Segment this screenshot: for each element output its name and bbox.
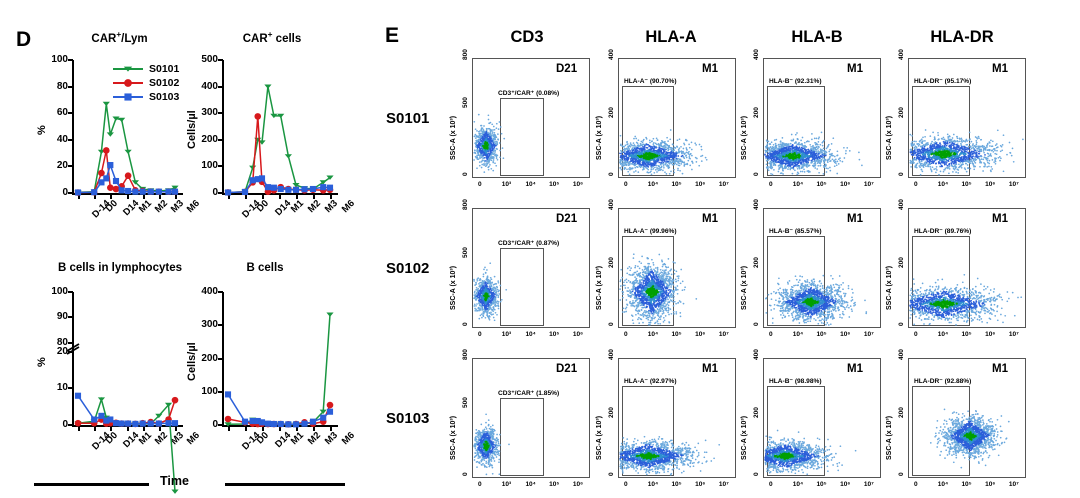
flow-badge: M1 <box>847 63 863 75</box>
flow-x-tick: 10⁷ <box>1009 331 1019 338</box>
flow-y-tick: 0 <box>898 472 905 476</box>
flow-x-tick: 10⁶ <box>573 481 583 488</box>
x-tickmark-b-cells-1 <box>245 427 247 431</box>
panel-letter-e: E <box>385 24 399 48</box>
flow-x-tick: 10⁷ <box>719 181 729 188</box>
flow-x-tick: 10⁶ <box>985 331 995 338</box>
x-tick-b-cells-6: M6 <box>340 430 357 447</box>
y-tickmark-car-lym-5 <box>68 59 73 61</box>
x-tickmark-b-cells-5 <box>313 427 315 431</box>
flow-row-header-s0101: S0101 <box>386 110 429 127</box>
x-tickmark-b-cells-4 <box>296 427 298 431</box>
flow-y-tick: 800 <box>462 49 469 60</box>
legend-label-s0102: S0102 <box>149 77 179 89</box>
flow-x-tick: 10⁶ <box>573 181 583 188</box>
flow-badge: M1 <box>847 363 863 375</box>
legend-marker-s0101 <box>112 63 146 75</box>
x-tickmark-b-cells-lym-4 <box>143 427 145 431</box>
y-tickmark-car-lym-0 <box>68 192 73 194</box>
flow-y-tick: 500 <box>462 98 469 109</box>
flow-y-tick: 200 <box>608 407 615 418</box>
flow-x-tick: 10⁴ <box>525 181 535 188</box>
flow-x-tick: 10⁴ <box>938 181 948 188</box>
flow-gate-rect <box>622 386 674 476</box>
flow-x-tick: 10⁵ <box>816 481 826 488</box>
flow-gate-label: HLA-A⁻ (90.70%) <box>624 77 677 85</box>
legend-item-s0102: S0102 <box>112 76 179 90</box>
flow-x-tick: 10⁶ <box>695 331 705 338</box>
flow-x-tick: 10⁴ <box>793 181 803 188</box>
flow-y-tick: 0 <box>753 172 760 176</box>
flow-x-tick: 0 <box>624 481 628 488</box>
flow-x-tick: 0 <box>914 331 918 338</box>
flow-badge: D21 <box>556 363 577 375</box>
flow-x-tick: 0 <box>624 331 628 338</box>
flow-x-tick: 0 <box>624 181 628 188</box>
x-tickmark-b-cells-3 <box>279 427 281 431</box>
flow-y-axis-label: SSC-A (x 10³) <box>741 416 748 460</box>
flow-badge: M1 <box>992 363 1008 375</box>
legend-label-s0101: S0101 <box>149 63 179 75</box>
flow-x-tick: 0 <box>769 331 773 338</box>
x-tickmark-car-lym-2 <box>110 195 112 199</box>
x-tickmark-b-cells-lym-5 <box>159 427 161 431</box>
flow-y-tick: 200 <box>753 407 760 418</box>
y-tick-b-cells-lym-3: 80 <box>38 337 68 348</box>
flow-y-tick: 400 <box>753 49 760 60</box>
flow-y-tick: 400 <box>608 349 615 360</box>
flow-gate-rect <box>500 248 544 326</box>
y-axis-line-car-cells <box>222 60 224 193</box>
x-tick-b-cells-lym-5: M3 <box>169 430 186 447</box>
x-tick-car-cells-5: M3 <box>323 198 340 215</box>
flow-gate-label: HLA-DR⁻ (92.88%) <box>914 377 971 385</box>
y-tick-car-lym-2: 40 <box>38 134 68 145</box>
y-tick-car-cells-2: 200 <box>188 134 218 145</box>
y-tick-car-cells-4: 400 <box>188 81 218 92</box>
flow-y-tick: 200 <box>753 257 760 268</box>
y-tickmark-car-cells-0 <box>218 192 223 194</box>
y-tick-b-cells-1: 100 <box>188 386 218 397</box>
chart-title-b-cells: B cells <box>225 262 305 274</box>
flow-x-tick: 10⁷ <box>864 181 874 188</box>
legend-marker-s0102 <box>112 77 146 89</box>
flow-y-tick: 0 <box>898 322 905 326</box>
y-tickmark-car-lym-4 <box>68 86 73 88</box>
y-tick-b-cells-2: 200 <box>188 353 218 364</box>
y-tick-car-lym-1: 20 <box>38 160 68 171</box>
flow-y-axis-label: SSC-A (x 10³) <box>886 266 893 310</box>
flow-y-tick: 0 <box>753 322 760 326</box>
flow-x-tick: 10⁴ <box>525 331 535 338</box>
x-tick-b-cells-lym-3: M1 <box>136 430 153 447</box>
flow-y-tick: 0 <box>608 172 615 176</box>
y-tickmark-b-cells-3 <box>218 324 223 326</box>
y-tick-car-cells-5: 500 <box>188 54 218 65</box>
y-tick-b-cells-3: 300 <box>188 319 218 330</box>
y-tickmark-b-cells-0 <box>218 424 223 426</box>
flow-y-tick: 500 <box>462 248 469 259</box>
flow-y-tick: 200 <box>898 107 905 118</box>
legend-item-s0103: S0103 <box>112 90 179 104</box>
flow-y-tick: 400 <box>753 199 760 210</box>
flow-y-tick: 0 <box>462 472 469 476</box>
flow-y-axis-label: SSC-A (x 10³) <box>886 416 893 460</box>
flow-gate-rect <box>622 236 674 326</box>
y-tickmark-b-cells-2 <box>218 358 223 360</box>
flow-badge: M1 <box>847 213 863 225</box>
flow-x-tick: 10⁶ <box>695 481 705 488</box>
y-tick-car-cells-0: 0 <box>188 187 218 198</box>
flow-y-axis-label: SSC-A (x 10³) <box>450 266 457 310</box>
flow-x-tick: 0 <box>769 481 773 488</box>
flow-x-tick: 10⁶ <box>840 181 850 188</box>
flow-column-header-hla-a: HLA-A <box>602 28 740 47</box>
flow-y-tick: 0 <box>898 172 905 176</box>
flow-x-tick: 10⁵ <box>671 331 681 338</box>
flow-badge: M1 <box>992 213 1008 225</box>
flow-x-tick: 10⁵ <box>816 181 826 188</box>
flow-y-tick: 0 <box>608 322 615 326</box>
x-tick-car-lym-6: M6 <box>185 198 202 215</box>
flow-y-axis-label: SSC-A (x 10³) <box>741 116 748 160</box>
flow-y-tick: 400 <box>898 49 905 60</box>
x-tickmark-b-cells-lym-2 <box>110 427 112 431</box>
legend-label-s0103: S0103 <box>149 91 179 103</box>
flow-gate-label: CD3⁺/CAR⁺ (0.08%) <box>498 89 559 97</box>
flow-y-tick: 200 <box>608 107 615 118</box>
y-tickmark-car-cells-2 <box>218 139 223 141</box>
flow-y-tick: 800 <box>462 349 469 360</box>
flow-gate-rect <box>500 398 544 476</box>
flow-x-tick: 10⁴ <box>648 481 658 488</box>
y-tickmark-car-lym-3 <box>68 112 73 114</box>
flow-x-tick: 10⁵ <box>671 481 681 488</box>
flow-gate-label: CD3⁺/CAR⁺ (1.85%) <box>498 389 559 397</box>
flow-badge: M1 <box>702 363 718 375</box>
y-tickmark-b-cells-lym-4 <box>68 316 73 318</box>
x-tickmark-car-cells-0 <box>228 195 230 199</box>
x-tick-car-cells-6: M6 <box>340 198 357 215</box>
flow-x-tick: 0 <box>478 331 482 338</box>
flow-x-tick: 10⁴ <box>648 331 658 338</box>
y-tick-b-cells-4: 400 <box>188 286 218 297</box>
y-tickmark-b-cells-lym-0 <box>68 424 73 426</box>
flow-gate-rect <box>767 86 825 176</box>
flow-row-header-s0103: S0103 <box>386 410 429 427</box>
flow-x-tick: 10⁴ <box>648 181 658 188</box>
flow-x-tick: 10³ <box>502 481 511 488</box>
flow-y-axis-label: SSC-A (x 10³) <box>741 266 748 310</box>
flow-gate-rect <box>912 86 970 176</box>
flow-x-tick: 10⁶ <box>985 481 995 488</box>
flow-gate-label: CD3⁺/CAR⁺ (0.87%) <box>498 239 559 247</box>
x-tickmark-car-lym-6 <box>175 195 177 199</box>
flow-x-tick: 10⁵ <box>549 181 559 188</box>
x-tickmark-car-cells-6 <box>330 195 332 199</box>
flow-badge: M1 <box>702 213 718 225</box>
flow-x-tick: 0 <box>478 181 482 188</box>
x-tickmark-car-lym-1 <box>94 195 96 199</box>
flow-y-axis-label: SSC-A (x 10³) <box>886 116 893 160</box>
flow-x-tick: 10⁴ <box>793 481 803 488</box>
flow-y-tick: 200 <box>898 407 905 418</box>
flow-x-tick: 0 <box>478 481 482 488</box>
flow-x-tick: 10⁶ <box>985 181 995 188</box>
y-tick-car-lym-3: 60 <box>38 107 68 118</box>
flow-x-tick: 10⁵ <box>961 481 971 488</box>
flow-x-tick: 10⁵ <box>816 331 826 338</box>
x-tickmark-car-lym-3 <box>127 195 129 199</box>
x-tickmark-car-cells-1 <box>245 195 247 199</box>
flow-y-axis-label: SSC-A (x 10³) <box>450 116 457 160</box>
legend-item-s0101: S0101 <box>112 62 179 76</box>
x-tickmark-car-lym-4 <box>143 195 145 199</box>
flow-x-tick: 10⁷ <box>864 481 874 488</box>
x-tick-b-cells-4: M2 <box>306 430 323 447</box>
flow-column-header-cd3: CD3 <box>458 28 596 47</box>
flow-column-header-hla-dr: HLA-DR <box>893 28 1031 47</box>
flow-gate-label: HLA-B⁻ (85.57%) <box>769 227 822 235</box>
y-tickmark-b-cells-lym-1 <box>68 387 73 389</box>
flow-column-header-hla-b: HLA-B <box>748 28 886 47</box>
y-axis-line-car-lym <box>72 60 74 193</box>
x-tickmark-b-cells-lym-1 <box>94 427 96 431</box>
y-tick-car-lym-5: 100 <box>38 54 68 65</box>
flow-x-tick: 10⁴ <box>938 481 948 488</box>
x-tick-b-cells-lym-4: M2 <box>153 430 170 447</box>
flow-y-tick: 500 <box>462 398 469 409</box>
x-tickmark-car-cells-4 <box>296 195 298 199</box>
flow-gate-rect <box>767 236 825 326</box>
chart-title-car-lym: CAR+/Lym <box>62 30 177 45</box>
x-tickmark-car-cells-2 <box>262 195 264 199</box>
x-tick-b-cells-lym-6: M6 <box>185 430 202 447</box>
y-tick-b-cells-lym-0: 0 <box>38 419 68 430</box>
flow-gate-rect <box>912 386 970 476</box>
flow-gate-label: HLA-A⁻ (99.96%) <box>624 227 677 235</box>
y-tickmark-car-cells-3 <box>218 112 223 114</box>
flow-x-tick: 10⁷ <box>719 331 729 338</box>
y-tick-b-cells-lym-4: 90 <box>38 311 68 322</box>
x-tick-car-cells-4: M2 <box>306 198 323 215</box>
flow-y-tick: 800 <box>462 199 469 210</box>
flow-x-tick: 10⁴ <box>525 481 535 488</box>
flow-x-tick: 0 <box>914 481 918 488</box>
flow-x-tick: 10⁴ <box>938 331 948 338</box>
flow-gate-label: HLA-A⁻ (92.97%) <box>624 377 677 385</box>
x-tick-car-lym-4: M2 <box>153 198 170 215</box>
flow-x-tick: 10⁶ <box>840 481 850 488</box>
x-tickmark-b-cells-lym-6 <box>175 427 177 431</box>
flow-gate-rect <box>500 98 544 176</box>
flow-y-tick: 200 <box>753 107 760 118</box>
x-tickmark-car-cells-5 <box>313 195 315 199</box>
flow-x-tick: 0 <box>914 181 918 188</box>
flow-y-tick: 400 <box>753 349 760 360</box>
x-tickmark-car-lym-0 <box>78 195 80 199</box>
x-tickmark-car-cells-3 <box>279 195 281 199</box>
y-tickmark-car-lym-2 <box>68 139 73 141</box>
flow-y-axis-label: SSC-A (x 10³) <box>596 116 603 160</box>
flow-y-axis-label: SSC-A (x 10³) <box>596 266 603 310</box>
flow-x-tick: 10⁵ <box>961 181 971 188</box>
x-tick-car-cells-3: M1 <box>289 198 306 215</box>
flow-badge: D21 <box>556 213 577 225</box>
flow-x-tick: 10⁴ <box>793 331 803 338</box>
y-tickmark-b-cells-1 <box>218 391 223 393</box>
x-tickmark-b-cells-0 <box>228 427 230 431</box>
x-tick-b-cells-5: M3 <box>323 430 340 447</box>
y-tickmark-b-cells-4 <box>218 291 223 293</box>
flow-x-tick: 10³ <box>502 331 511 338</box>
flow-x-tick: 10⁷ <box>864 331 874 338</box>
x-tickmark-b-cells-lym-3 <box>127 427 129 431</box>
y-tickmark-car-lym-1 <box>68 165 73 167</box>
flow-x-tick: 10⁶ <box>840 331 850 338</box>
x-tick-car-lym-5: M3 <box>169 198 186 215</box>
flow-gate-rect <box>912 236 970 326</box>
flow-y-tick: 0 <box>608 472 615 476</box>
flow-badge: D21 <box>556 63 577 75</box>
y-tickmark-b-cells-lym-5 <box>68 291 73 293</box>
y-tickmark-car-cells-4 <box>218 86 223 88</box>
flow-y-tick: 400 <box>608 49 615 60</box>
flow-gate-rect <box>622 86 674 176</box>
x-tickmark-b-cells-lym-0 <box>78 427 80 431</box>
flow-x-tick: 10⁶ <box>695 181 705 188</box>
flow-badge: M1 <box>702 63 718 75</box>
flow-x-tick: 10⁵ <box>549 331 559 338</box>
flow-gate-label: HLA-DR⁻ (89.76%) <box>914 227 971 235</box>
flow-x-tick: 10⁵ <box>549 481 559 488</box>
flow-x-tick: 0 <box>769 181 773 188</box>
flow-x-tick: 10⁶ <box>573 331 583 338</box>
y-tick-b-cells-0: 0 <box>188 419 218 430</box>
flow-y-tick: 0 <box>462 322 469 326</box>
x-tickmark-car-lym-5 <box>159 195 161 199</box>
flow-y-axis-label: SSC-A (x 10³) <box>596 416 603 460</box>
flow-x-tick: 10⁷ <box>1009 181 1019 188</box>
chart-title-b-cells-lym: B cells in lymphocytes <box>45 262 195 274</box>
flow-row-header-s0102: S0102 <box>386 260 429 277</box>
y-axis-break-b-cells-lym <box>67 341 81 360</box>
time-bar-left <box>34 483 149 486</box>
flow-y-tick: 0 <box>753 472 760 476</box>
panel-letter-d: D <box>16 28 31 52</box>
flow-x-tick: 10⁷ <box>1009 481 1019 488</box>
x-tickmark-b-cells-2 <box>262 427 264 431</box>
y-axis-label-b-cells-lym: % <box>36 357 48 367</box>
flow-y-tick: 400 <box>898 349 905 360</box>
x-tick-b-cells-3: M1 <box>289 430 306 447</box>
y-tick-car-cells-1: 100 <box>188 160 218 171</box>
flow-gate-label: HLA-DR⁻ (95.17%) <box>914 77 971 85</box>
x-tickmark-b-cells-6 <box>330 427 332 431</box>
flow-y-tick: 0 <box>462 172 469 176</box>
flow-gate-label: HLA-B⁻ (92.31%) <box>769 77 822 85</box>
flow-gate-label: HLA-B⁻ (98.98%) <box>769 377 822 385</box>
flow-y-tick: 400 <box>608 199 615 210</box>
time-bar-right <box>225 483 345 486</box>
flow-x-tick: 10⁵ <box>671 181 681 188</box>
x-tick-car-lym-3: M1 <box>136 198 153 215</box>
chart-title-car-cells: CAR+ cells <box>212 30 332 45</box>
legend-marker-s0103 <box>112 91 146 103</box>
time-axis-label: Time <box>160 474 189 488</box>
flow-x-tick: 10⁵ <box>961 331 971 338</box>
flow-gate-rect <box>767 386 825 476</box>
y-tick-car-lym-0: 0 <box>38 187 68 198</box>
flow-y-tick: 200 <box>608 257 615 268</box>
flow-y-tick: 400 <box>898 199 905 210</box>
y-tick-b-cells-lym-1: 10 <box>38 382 68 393</box>
flow-x-tick: 10³ <box>502 181 511 188</box>
flow-y-axis-label: SSC-A (x 10³) <box>450 416 457 460</box>
flow-x-tick: 10⁷ <box>719 481 729 488</box>
flow-badge: M1 <box>992 63 1008 75</box>
y-tick-car-lym-4: 80 <box>38 81 68 92</box>
flow-y-tick: 200 <box>898 257 905 268</box>
y-tickmark-car-cells-1 <box>218 165 223 167</box>
y-tick-car-cells-3: 300 <box>188 107 218 118</box>
y-tick-b-cells-lym-5: 100 <box>38 286 68 297</box>
y-tickmark-car-cells-5 <box>218 59 223 61</box>
